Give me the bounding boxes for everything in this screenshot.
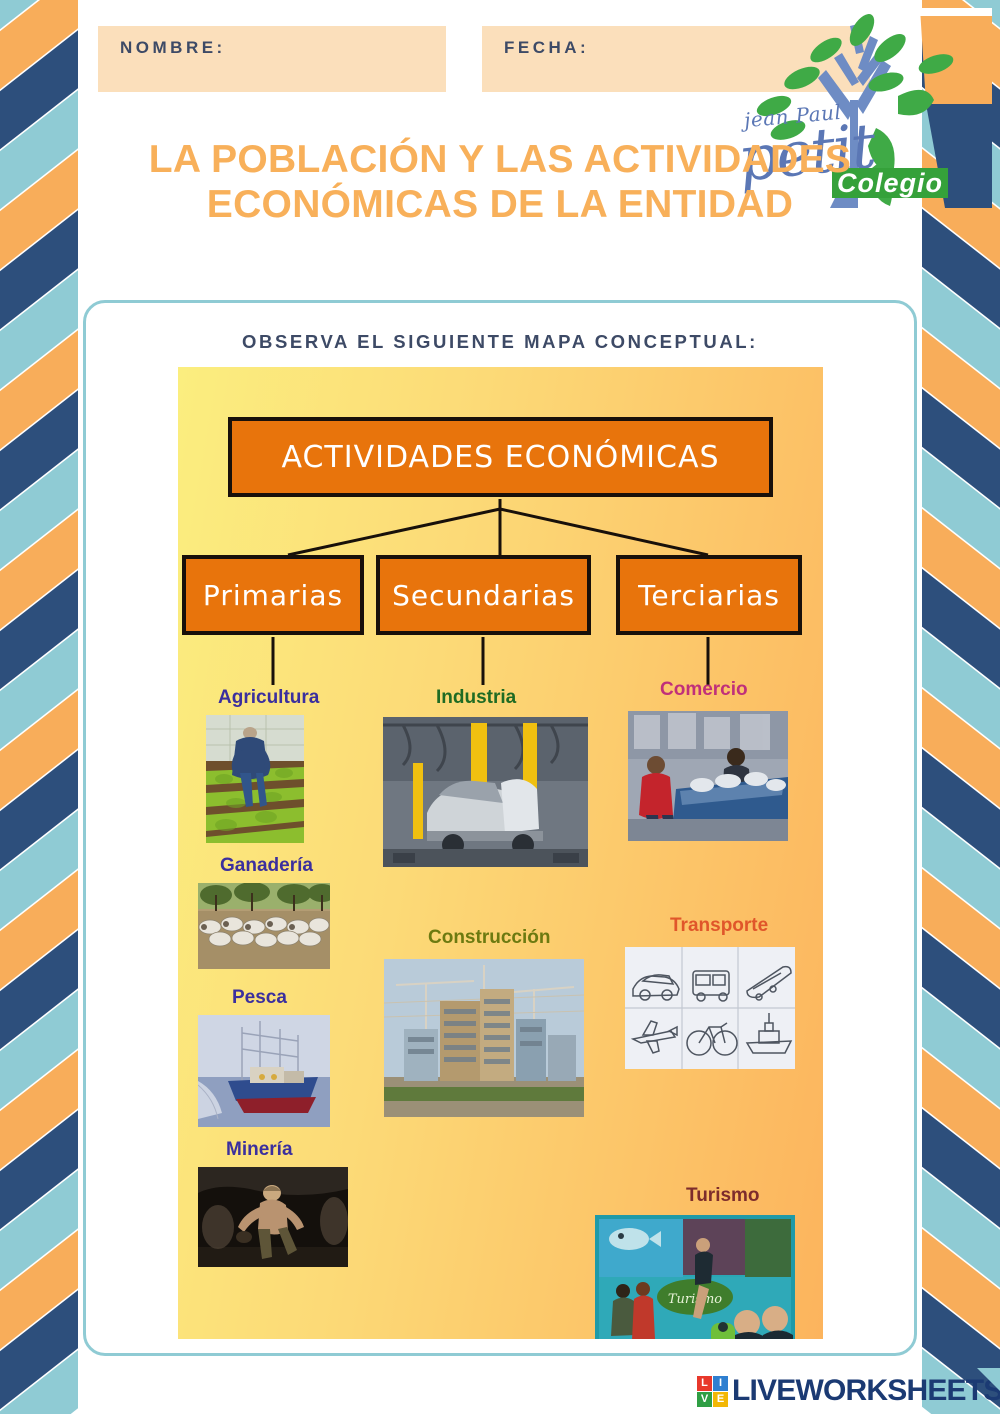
nombre-label: NOMBRE:: [120, 38, 226, 58]
corner-accent: [977, 1368, 1000, 1394]
photo-ganaderia: [198, 883, 330, 969]
liveworksheets-tile: V: [697, 1392, 712, 1407]
liveworksheets-tile: L: [697, 1376, 712, 1391]
photo-pesca: [198, 1015, 330, 1127]
label-transporte: Transporte: [670, 915, 768, 937]
liveworksheets-tiles: LIVE: [697, 1376, 728, 1407]
label-agricultura: Agricultura: [218, 687, 319, 709]
liveworksheets-tile: E: [713, 1392, 728, 1407]
photo-industria: [383, 717, 588, 867]
left-stripe-border: [0, 0, 78, 1414]
photo-construccion: [384, 959, 584, 1117]
photo-transporte: [625, 947, 795, 1069]
label-mineria: Minería: [226, 1139, 293, 1161]
label-comercio: Comercio: [660, 679, 748, 701]
label-ganaderia: Ganadería: [220, 855, 313, 877]
photo-comercio: [628, 711, 788, 841]
concept-node-root: ACTIVIDADES ECONÓMICAS: [228, 417, 773, 497]
concept-node-primarias: Primarias: [182, 555, 364, 635]
nombre-field[interactable]: NOMBRE:: [98, 26, 446, 92]
page-title: LA POBLACIÓN Y LAS ACTIVIDADES ECONÓMICA…: [70, 138, 930, 228]
label-construccion: Construcción: [428, 927, 550, 949]
label-industria: Industria: [436, 687, 516, 709]
label-pesca: Pesca: [232, 987, 287, 1009]
liveworksheets-tile: I: [713, 1376, 728, 1391]
concept-node-terciarias: Terciarias: [616, 555, 802, 635]
label-turismo: Turismo: [686, 1185, 760, 1207]
instruction-text: OBSERVA EL SIGUIENTE MAPA CONCEPTUAL:: [86, 331, 914, 353]
svg-text:Turismo: Turismo: [668, 1292, 722, 1307]
fecha-label: FECHA:: [504, 38, 589, 58]
worksheet-panel: OBSERVA EL SIGUIENTE MAPA CONCEPTUAL: AC…: [83, 300, 917, 1356]
photo-agricultura: [206, 715, 304, 843]
concept-map: ACTIVIDADES ECONÓMICAS Primarias Secunda…: [178, 367, 823, 1339]
photo-turismo: Turismo: [595, 1215, 795, 1339]
liveworksheets-word: LIVEWORKSHEETS: [732, 1374, 1000, 1408]
concept-node-secundarias: Secundarias: [376, 555, 591, 635]
photo-mineria: [198, 1167, 348, 1267]
liveworksheets-watermark: LIVE LIVEWORKSHEETS: [697, 1374, 1000, 1408]
